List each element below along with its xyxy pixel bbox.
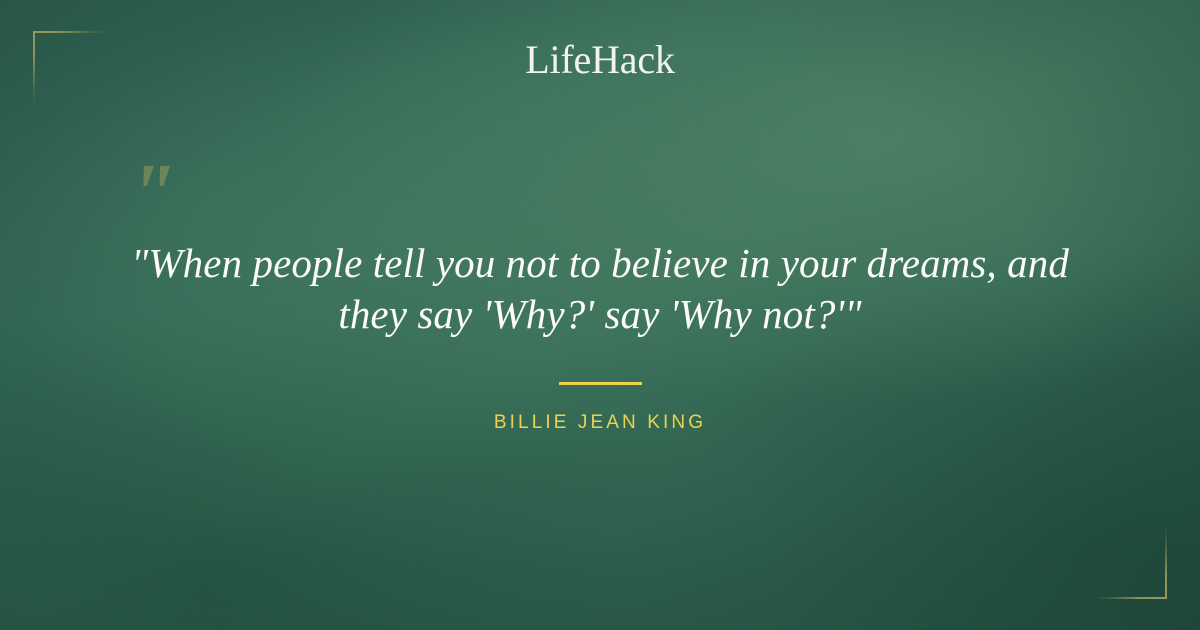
quote-line: "When people tell you not to believe in … [100,238,1100,289]
divider-rule [559,382,642,385]
corner-bracket-bottom-right [1095,525,1167,599]
corner-bracket-bottom-right-horizontal-line [1095,597,1167,599]
brand-logo: LifeHack [0,38,1200,82]
quote-author: BILLIE JEAN KING [0,412,1200,434]
quote-text: "When people tell you not to believe in … [100,238,1100,340]
quotation-mark-icon: " [128,150,176,236]
corner-bracket-bottom-right-vertical-line [1165,525,1167,599]
quote-line: they say 'Why?' say 'Why not?'" [100,289,1100,340]
quote-card: LifeHack " "When people tell you not to … [0,0,1200,630]
corner-bracket-top-left-horizontal-line [33,31,105,33]
